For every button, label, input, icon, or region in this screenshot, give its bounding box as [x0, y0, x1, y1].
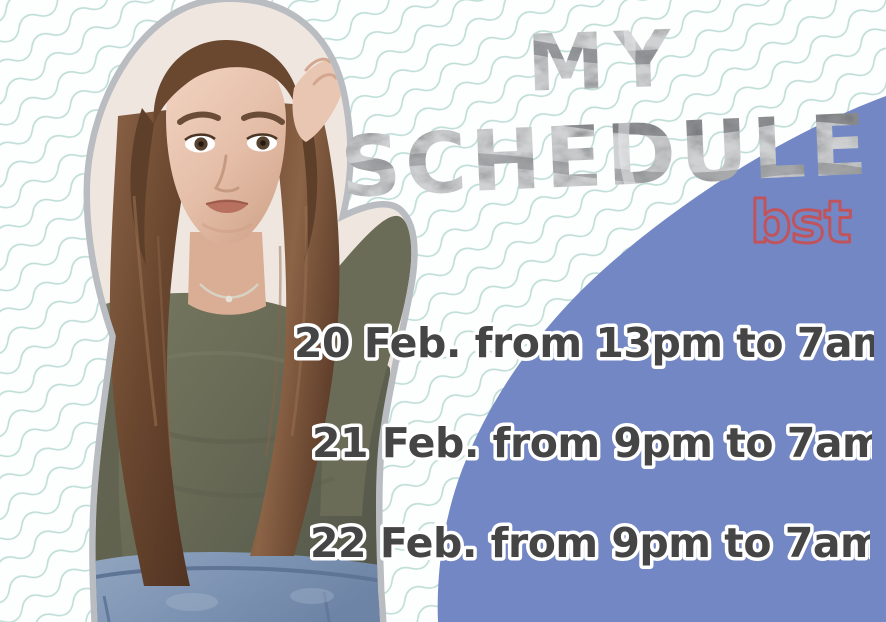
schedule-entry: 21 Feb. from 9pm to 7am: [0, 392, 886, 492]
schedule-entry: 22 Feb. from 9pm to 7am: [0, 492, 886, 592]
schedule-entry: 20 Feb. from 13pm to 7am: [0, 292, 886, 392]
schedule-poster: MY SCHEDULE MY SCHEDULE bst 20 Feb. from…: [0, 0, 886, 622]
bst-brand-logo: bst: [744, 186, 864, 263]
schedule-list: 20 Feb. from 13pm to 7am 21 Feb. from 9p…: [0, 292, 886, 592]
schedule-entry-text: 22 Feb. from 9pm to 7am: [310, 519, 870, 567]
schedule-entry-text: 21 Feb. from 9pm to 7am: [312, 419, 872, 467]
bst-logo-text: bst: [750, 188, 851, 256]
schedule-entry-text: 20 Feb. from 13pm to 7am: [294, 319, 874, 367]
